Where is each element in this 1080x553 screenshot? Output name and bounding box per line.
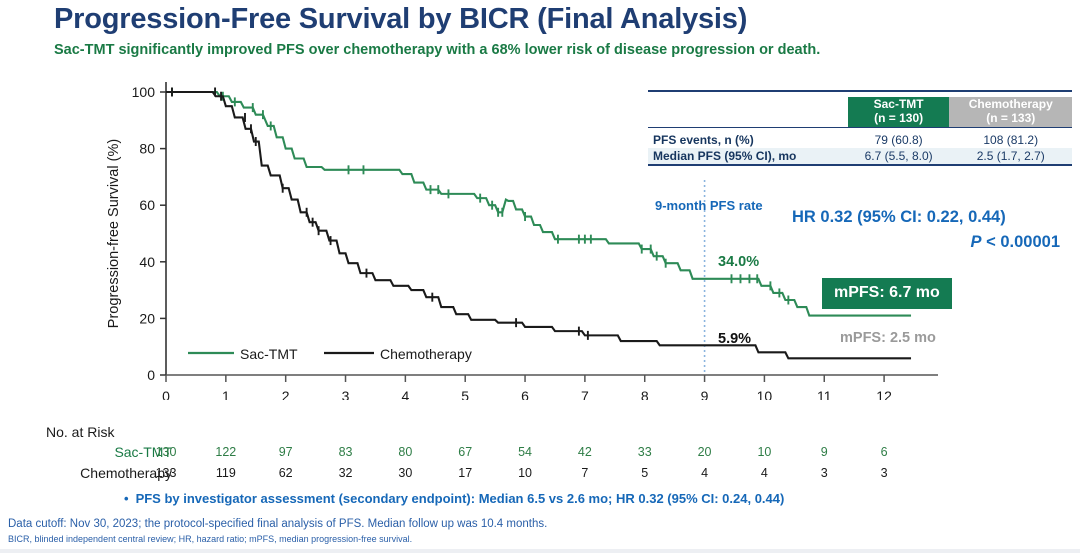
results-table-header-row: Sac-TMT (n = 130) Chemotherapy (n = 133) <box>648 97 1072 127</box>
page-subtitle: Sac-TMT significantly improved PFS over … <box>54 42 1064 59</box>
page-title: Progression-Free Survival by BICR (Final… <box>54 4 1054 36</box>
risk-value: 33 <box>628 445 662 459</box>
number-at-risk-table: No. at Risk Sac-TMT Chemotherapy 1301229… <box>0 424 1080 484</box>
row-label-median-pfs: Median PFS (95% CI), mo <box>648 148 848 165</box>
risk-value: 10 <box>747 445 781 459</box>
x-axis-tick-label: 10 <box>757 388 773 400</box>
risk-value: 42 <box>568 445 602 459</box>
bottom-divider <box>0 549 1080 553</box>
p-value-annotation: P < 0.00001 <box>792 233 1060 252</box>
x-axis-tick-label: 12 <box>876 388 892 400</box>
risk-value: 54 <box>508 445 542 459</box>
table-row: Median PFS (95% CI), mo 6.7 (5.5, 8.0) 2… <box>648 148 1072 165</box>
risk-value: 30 <box>388 466 422 480</box>
risk-value: 80 <box>388 445 422 459</box>
footnote-abbreviations: BICR, blinded independent central review… <box>8 534 1008 544</box>
risk-value: 4 <box>747 466 781 480</box>
x-axis-tick-label: 9 <box>701 388 709 400</box>
chart-legend: Sac-TMTChemotherapy <box>188 346 472 362</box>
nine-month-pfs-rate-label: 9-month PFS rate <box>655 198 763 213</box>
results-header-chemotherapy-n: (n = 133) <box>954 112 1067 126</box>
x-axis-tick-label: 11 <box>817 388 832 400</box>
results-header-sac-tmt: Sac-TMT (n = 130) <box>848 97 950 127</box>
risk-value: 133 <box>149 466 183 480</box>
results-header-chemotherapy-name: Chemotherapy <box>954 98 1067 112</box>
p-value-symbol: P <box>971 233 982 251</box>
cell-pfs-events-chemotherapy: 108 (81.2) <box>949 132 1072 148</box>
y-axis-tick-label: 60 <box>139 197 155 213</box>
results-header-blank <box>648 97 848 127</box>
risk-value: 3 <box>867 466 901 480</box>
y-axis-tick-label: 0 <box>147 367 155 383</box>
number-at-risk-title: No. at Risk <box>46 424 114 440</box>
y-axis-tick-label: 40 <box>139 254 155 270</box>
row-label-pfs-events: PFS events, n (%) <box>648 132 848 148</box>
x-axis-tick-label: 5 <box>461 388 469 400</box>
results-header-chemotherapy: Chemotherapy (n = 133) <box>949 97 1072 127</box>
risk-value: 6 <box>867 445 901 459</box>
risk-value: 62 <box>269 466 303 480</box>
chemotherapy-9month-rate: 5.9% <box>718 331 751 347</box>
slide-root: Progression-Free Survival by BICR (Final… <box>0 0 1080 553</box>
mpfs-sac-tmt-badge: mPFS: 6.7 mo <box>822 278 952 309</box>
mpfs-chemotherapy-label: mPFS: 2.5 mo <box>840 330 936 346</box>
legend-label-chemotherapy: Chemotherapy <box>380 346 472 362</box>
risk-value: 119 <box>209 466 243 480</box>
results-header-sac-tmt-name: Sac-TMT <box>853 98 945 112</box>
cell-median-pfs-chemotherapy: 2.5 (1.7, 2.7) <box>949 148 1072 165</box>
x-axis-tick-label: 6 <box>521 388 529 400</box>
risk-value: 67 <box>448 445 482 459</box>
y-axis-tick-label: 80 <box>139 141 155 157</box>
risk-value: 9 <box>807 445 841 459</box>
p-value-number: < 0.00001 <box>982 233 1060 251</box>
risk-value: 20 <box>688 445 722 459</box>
risk-value: 17 <box>448 466 482 480</box>
bullet-icon: • <box>124 491 129 506</box>
cell-median-pfs-sac-tmt: 6.7 (5.5, 8.0) <box>848 148 950 165</box>
x-axis-tick-label: 3 <box>342 388 350 400</box>
footnote-data-cutoff: Data cutoff: Nov 30, 2023; the protocol-… <box>8 518 1008 530</box>
risk-value: 32 <box>329 466 363 480</box>
y-axis-tick-label: 20 <box>139 310 155 326</box>
risk-value: 130 <box>149 445 183 459</box>
legend-label-sac-tmt: Sac-TMT <box>240 346 298 362</box>
y-axis-tick-label: 100 <box>132 84 156 100</box>
risk-value: 7 <box>568 466 602 480</box>
x-axis-tick-label: 0 <box>162 388 170 400</box>
cell-pfs-events-sac-tmt: 79 (60.8) <box>848 132 950 148</box>
risk-value: 3 <box>807 466 841 480</box>
risk-value: 10 <box>508 466 542 480</box>
secondary-endpoint-bullet: •PFS by investigator assessment (seconda… <box>124 491 1024 506</box>
risk-value: 4 <box>688 466 722 480</box>
results-header-sac-tmt-n: (n = 130) <box>853 112 945 126</box>
x-axis-tick-label: 7 <box>581 388 589 400</box>
risk-value: 5 <box>628 466 662 480</box>
table-row: PFS events, n (%) 79 (60.8) 108 (81.2) <box>648 132 1072 148</box>
x-axis-tick-label: 4 <box>401 388 409 400</box>
x-axis-tick-label: 1 <box>222 388 230 400</box>
x-axis-tick-label: 8 <box>641 388 649 400</box>
x-axis-tick-label: 2 <box>282 388 290 400</box>
secondary-endpoint-text: PFS by investigator assessment (secondar… <box>136 491 785 506</box>
sac-tmt-9month-rate: 34.0% <box>718 254 759 270</box>
y-axis-title: Progression-free Survival (%) <box>106 139 122 328</box>
risk-value: 83 <box>329 445 363 459</box>
hazard-ratio-annotation: HR 0.32 (95% CI: 0.22, 0.44) <box>792 208 1078 227</box>
risk-value: 122 <box>209 445 243 459</box>
results-table: Sac-TMT (n = 130) Chemotherapy (n = 133)… <box>648 90 1072 171</box>
risk-value: 97 <box>269 445 303 459</box>
